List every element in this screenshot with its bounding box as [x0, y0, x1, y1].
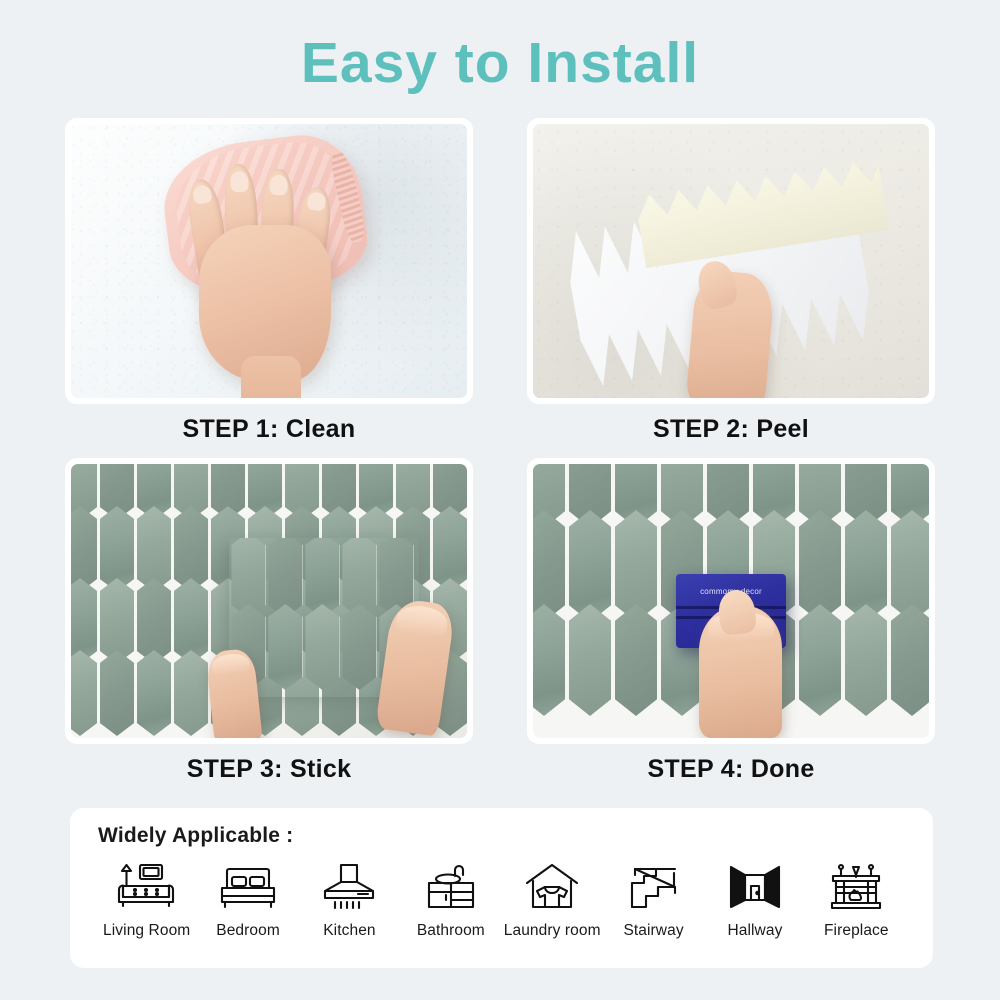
room-label: Kitchen [323, 922, 375, 940]
step-cell-4: commomy decor STEP 4: Done [527, 458, 935, 784]
room-item-hallway[interactable]: Hallway [704, 858, 805, 940]
wrist [241, 356, 301, 398]
picket-tile [268, 604, 302, 690]
picket-tile [100, 650, 134, 736]
room-label: Fireplace [824, 922, 889, 940]
step-photo-peel-image [533, 124, 929, 398]
range-hood-icon [320, 858, 378, 916]
picket-tile [845, 604, 887, 716]
step-label-3: STEP 3: Stick [65, 755, 473, 784]
step-label-2: STEP 2: Peel [527, 415, 935, 444]
room-item-stairway[interactable]: Stairway [603, 858, 704, 940]
room-item-bathroom[interactable]: Bathroom [400, 858, 501, 940]
step-cell-2: STEP 2: Peel [527, 118, 935, 444]
picket-tile [569, 604, 611, 716]
picket-tile [533, 510, 565, 622]
room-item-laundry-room[interactable]: Laundry room [502, 858, 603, 940]
room-label: Laundry room [504, 922, 601, 940]
picket-tile [799, 604, 841, 716]
fingernail [307, 192, 328, 212]
house-shirt-icon [523, 858, 581, 916]
hallway-doors-icon [726, 858, 784, 916]
sofa-lamp-tv-icon [116, 858, 178, 916]
room-label: Stairway [623, 922, 683, 940]
page-title: Easy to Install [0, 32, 1000, 95]
step-cell-1: STEP 1: Clean [65, 118, 473, 444]
picket-tile [891, 604, 929, 716]
room-item-fireplace[interactable]: Fireplace [806, 858, 907, 940]
tile-wall-complete: commomy decor [533, 464, 929, 738]
picket-tile [305, 604, 339, 690]
step-label-1: STEP 1: Clean [65, 415, 473, 444]
tile-wall-partial [71, 464, 467, 738]
fireplace-icon [827, 858, 885, 916]
picket-tile [891, 510, 929, 622]
fingernail [230, 170, 249, 192]
bed-icon [217, 858, 279, 916]
picket-tile [71, 650, 97, 736]
room-item-living-room[interactable]: Living Room [96, 858, 197, 940]
picket-tile [174, 650, 208, 736]
step-photo-done-image: commomy decor [533, 464, 929, 738]
room-label: Bathroom [417, 922, 485, 940]
stairs-icon [625, 858, 683, 916]
knuckles [210, 652, 250, 676]
picket-tile [615, 604, 657, 716]
step-photo-stick-image [71, 464, 467, 738]
room-icon-list: Living Room Bedroom [92, 858, 911, 940]
fingernail [269, 175, 288, 196]
picket-tile [71, 506, 97, 592]
widely-applicable-card: Widely Applicable : Living Room [70, 808, 933, 968]
steps-grid: STEP 1: Clean STEP 2: Peel [0, 118, 1000, 784]
widely-applicable-title: Widely Applicable : [98, 824, 911, 848]
knuckles [395, 603, 449, 639]
room-item-bedroom[interactable]: Bedroom [197, 858, 298, 940]
fingernail [192, 184, 213, 205]
room-item-kitchen[interactable]: Kitchen [299, 858, 400, 940]
step-photo-clean-image [71, 124, 467, 398]
step-label-4: STEP 4: Done [527, 755, 935, 784]
picket-tile [342, 604, 376, 690]
bathroom-vanity-icon [422, 858, 480, 916]
room-label: Bedroom [216, 922, 280, 940]
picket-tile [533, 604, 565, 716]
room-label: Hallway [727, 922, 782, 940]
step-cell-3: STEP 3: Stick [65, 458, 473, 784]
step-photo-peel [527, 118, 935, 404]
room-label: Living Room [103, 922, 190, 940]
step-photo-clean [65, 118, 473, 404]
steps-row-bottom: STEP 3: Stick commomy decor STEP 4: Done [0, 458, 1000, 784]
picket-tile [71, 578, 97, 664]
wiping-hand [190, 154, 340, 398]
step-photo-stick [65, 458, 473, 744]
steps-row-top: STEP 1: Clean STEP 2: Peel [0, 118, 1000, 444]
picket-tile [137, 650, 171, 736]
step-photo-done: commomy decor [527, 458, 935, 744]
